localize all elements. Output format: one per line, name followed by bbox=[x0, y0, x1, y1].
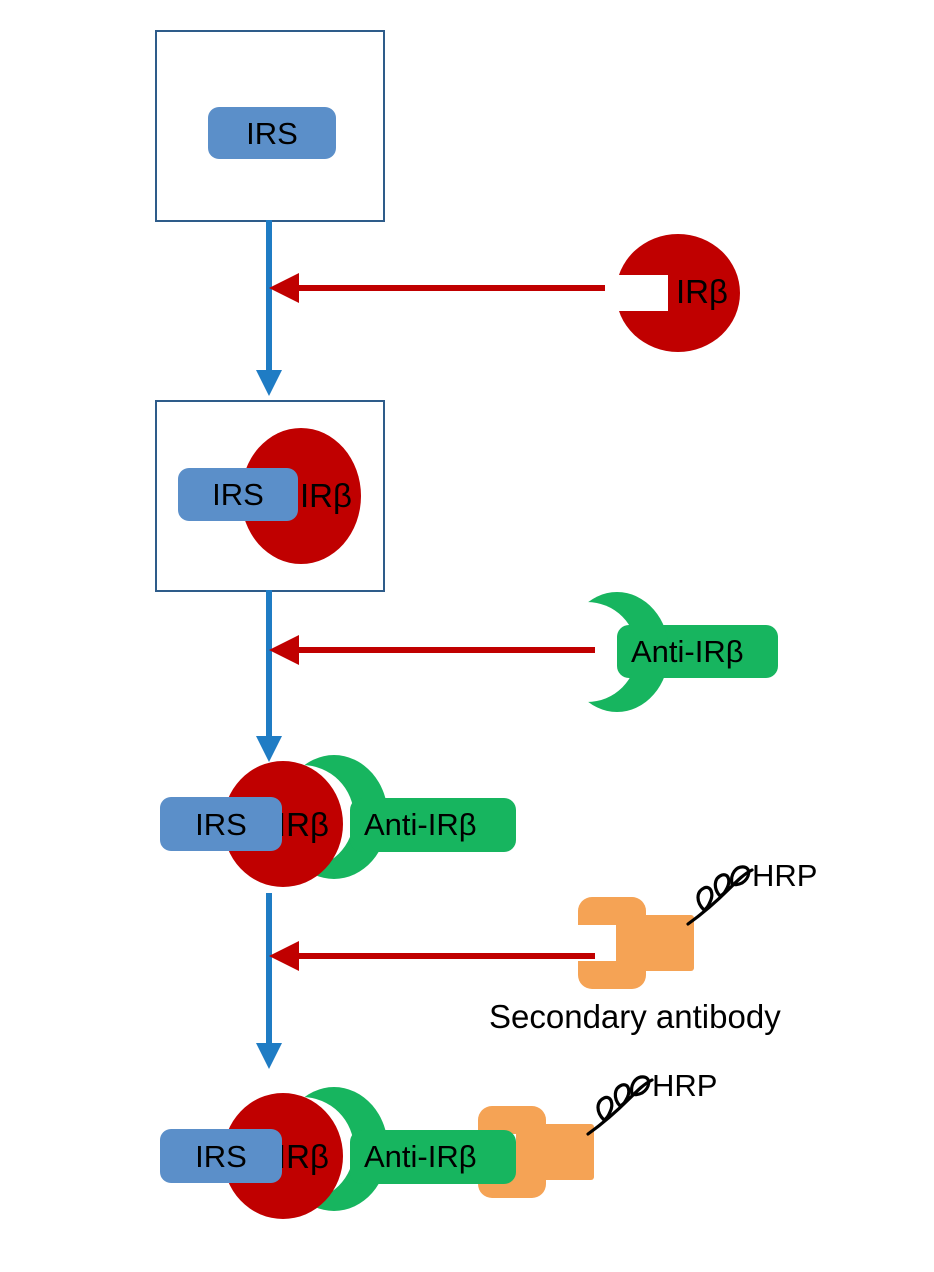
reagent-hrp-label: HRP bbox=[752, 860, 817, 891]
step2-irs-chip: IRS bbox=[178, 468, 298, 521]
diagram-canvas: IRS IRβ IRβ IRS bbox=[0, 0, 934, 1272]
flow-arrow-2 bbox=[250, 590, 292, 766]
step3-anti-label: Anti-IRβ bbox=[364, 809, 477, 840]
step4-irb-label: IRβ bbox=[277, 1140, 329, 1173]
step4-irs-chip: IRS bbox=[160, 1129, 282, 1183]
step3-irs-label: IRS bbox=[195, 809, 247, 840]
reagent-irb-label: IRβ bbox=[676, 275, 728, 308]
step3-irs-chip: IRS bbox=[160, 797, 282, 851]
reagent-arrow-secondary bbox=[265, 934, 595, 978]
step3-irb-label: IRβ bbox=[277, 808, 329, 841]
reagent-arrow-anti-irb bbox=[265, 628, 595, 672]
secondary-antibody-caption: Secondary antibody bbox=[489, 1000, 781, 1033]
step2-irb-label: IRβ bbox=[300, 479, 352, 512]
step4-anti-label: Anti-IRβ bbox=[364, 1141, 477, 1172]
step4-irs-label: IRS bbox=[195, 1141, 247, 1172]
step2-irs-label: IRS bbox=[212, 479, 264, 510]
step1-irs-label: IRS bbox=[246, 118, 298, 149]
step4-hrp-label: HRP bbox=[652, 1070, 717, 1101]
flow-arrow-1 bbox=[250, 220, 292, 400]
reagent-anti-irb-label: Anti-IRβ bbox=[631, 636, 744, 667]
step1-irs-chip: IRS bbox=[208, 107, 336, 159]
reagent-arrow-irb bbox=[265, 266, 605, 310]
flow-arrow-3 bbox=[250, 893, 292, 1073]
